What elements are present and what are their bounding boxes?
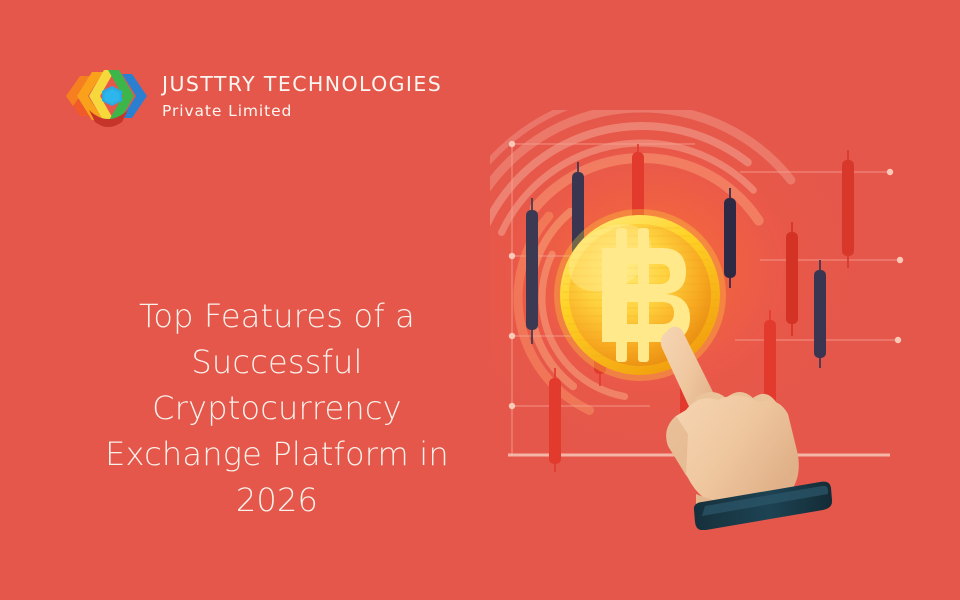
page-title: Top Features of a Successful Cryptocurre… bbox=[96, 293, 458, 523]
candlestick bbox=[526, 198, 538, 344]
brand-logo[interactable]: JUSTTRY TECHNOLOGIES Private Limited bbox=[62, 58, 462, 134]
bitcoin-coin-touch-illustration bbox=[490, 110, 940, 530]
brand-logo-text: JUSTTRY TECHNOLOGIES Private Limited bbox=[162, 74, 462, 119]
candlestick bbox=[842, 150, 854, 268]
poster-canvas: JUSTTRY TECHNOLOGIES Private Limited Top… bbox=[0, 0, 960, 600]
candlestick bbox=[549, 368, 561, 472]
bitcoin-coin-icon bbox=[554, 209, 726, 381]
company-suffix: Private Limited bbox=[162, 104, 462, 120]
candlestick bbox=[724, 188, 736, 288]
justtry-hex-logo-icon bbox=[62, 60, 154, 132]
company-name: JUSTTRY TECHNOLOGIES bbox=[162, 74, 462, 95]
candlestick bbox=[814, 260, 826, 368]
candlestick bbox=[786, 222, 798, 336]
